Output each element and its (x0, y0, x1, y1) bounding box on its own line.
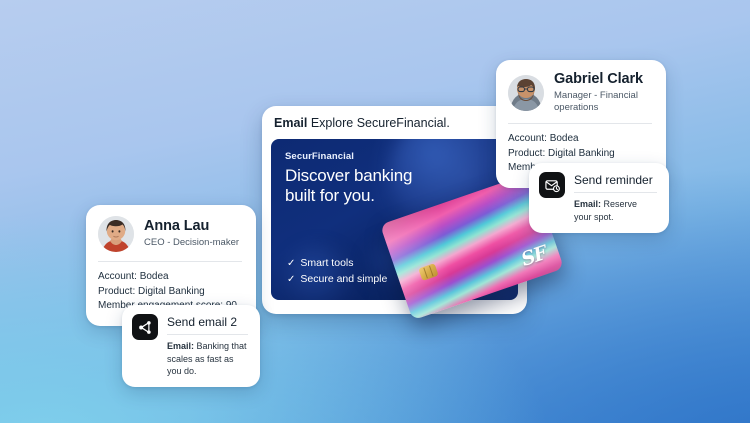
person-name: Gabriel Clark (554, 71, 652, 88)
hero-feature-item: ✓Smart tools (287, 255, 387, 272)
hero-headline: Discover banking built for you. (285, 166, 412, 206)
hero-feature-item: ✓Secure and simple (287, 271, 387, 288)
card-divider (508, 123, 652, 124)
person-identity: Anna Lau CEO - Decision-maker (144, 218, 239, 249)
avatar-photo-woman (98, 216, 134, 252)
envelope-clock-glyph (545, 178, 560, 193)
action-content: Send reminder Email: Reserve your spot. (574, 172, 657, 223)
action-sub-label: Email: (574, 199, 601, 209)
action-subtitle: Email: Banking that scales as fast as yo… (167, 335, 248, 376)
action-sub-label: Email: (167, 341, 194, 351)
person-detail-product: Product: Digital Banking (508, 147, 652, 162)
check-icon: ✓ (287, 258, 295, 269)
email-label: Email (274, 116, 307, 130)
node-split-glyph (138, 320, 153, 335)
action-content: Send email 2 Email: Banking that scales … (167, 314, 248, 377)
person-name: Anna Lau (144, 218, 239, 235)
person-detail-product: Product: Digital Banking (98, 285, 242, 300)
avatar (508, 75, 544, 111)
action-title: Send email 2 (167, 315, 248, 335)
action-subtitle: Email: Reserve your spot. (574, 193, 657, 222)
email-preview-header: Email Explore SecureFinancial. (271, 115, 518, 139)
avatar-photo-man (508, 75, 544, 111)
hero-feature-label: Secure and simple (300, 273, 387, 285)
action-title: Send reminder (574, 173, 657, 193)
action-card-send-reminder[interactable]: Send reminder Email: Reserve your spot. (529, 163, 669, 233)
person-role: CEO - Decision-maker (144, 237, 239, 249)
envelope-clock-icon (539, 172, 565, 198)
person-header: Anna Lau CEO - Decision-maker (98, 216, 242, 261)
card-divider (98, 261, 242, 262)
email-subject: Explore SecureFinancial. (311, 116, 450, 130)
person-detail-account: Account: Bodea (98, 270, 242, 285)
person-identity: Gabriel Clark Manager - Financial operat… (554, 71, 652, 114)
action-card-send-email-2[interactable]: Send email 2 Email: Banking that scales … (122, 305, 260, 387)
hero-feature-label: Smart tools (300, 257, 353, 269)
node-split-icon (132, 314, 158, 340)
hero-headline-line-2: built for you. (285, 186, 412, 206)
hero-feature-list: ✓Smart tools ✓Secure and simple (287, 255, 387, 288)
hero-brand-logo: SecurFinancial (285, 151, 354, 162)
person-detail-account: Account: Bodea (508, 132, 652, 147)
check-icon: ✓ (287, 274, 295, 285)
hero-headline-line-1: Discover banking (285, 166, 412, 186)
canvas: Email Explore SecureFinancial. SecurFina… (0, 0, 750, 423)
avatar (98, 216, 134, 252)
person-header: Gabriel Clark Manager - Financial operat… (508, 71, 652, 123)
person-role: Manager - Financial operations (554, 90, 652, 115)
